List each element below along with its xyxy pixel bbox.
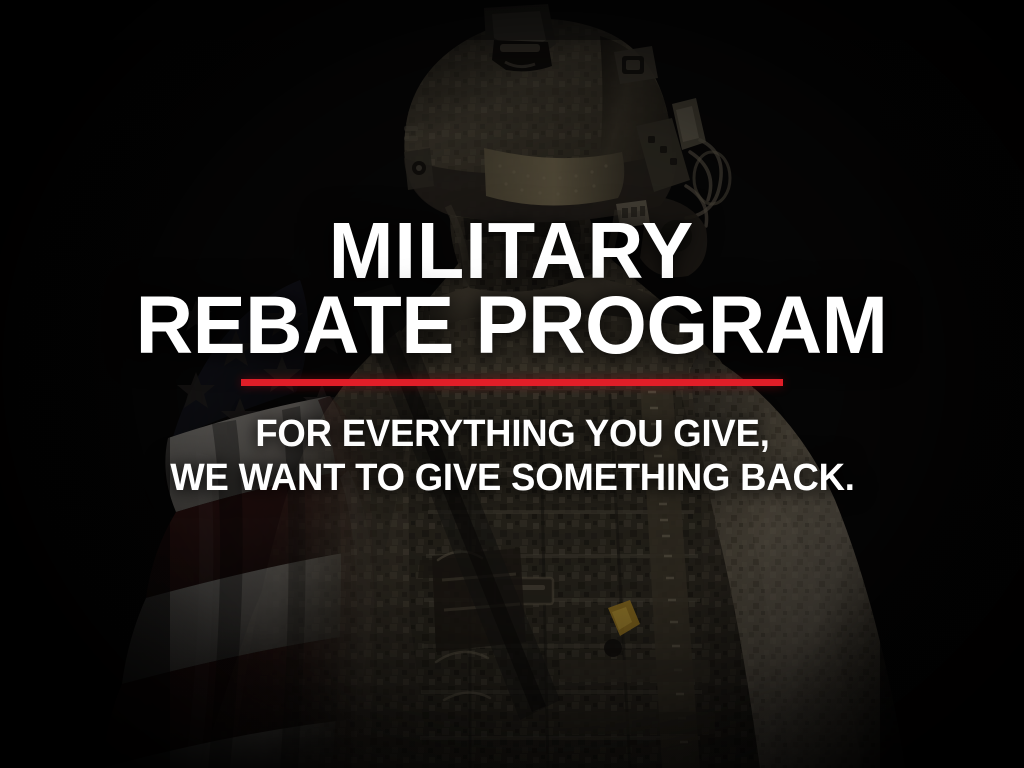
poster-content: MILITARY REBATE PROGRAM FOR EVERYTHING Y… bbox=[0, 0, 1024, 768]
military-rebate-poster: MILITARY REBATE PROGRAM FOR EVERYTHING Y… bbox=[0, 0, 1024, 768]
subheadline-line-2: WE WANT TO GIVE SOMETHING BACK. bbox=[170, 456, 854, 501]
divider-wrap bbox=[0, 379, 1024, 386]
red-rule-divider bbox=[241, 379, 783, 386]
subheadline: FOR EVERYTHING YOU GIVE, WE WANT TO GIVE… bbox=[170, 412, 854, 502]
headline-line-1: MILITARY bbox=[136, 214, 888, 288]
headline-line-2: REBATE PROGRAM bbox=[136, 288, 888, 364]
subheadline-line-1: FOR EVERYTHING YOU GIVE, bbox=[170, 412, 854, 457]
page-title: MILITARY REBATE PROGRAM bbox=[136, 214, 888, 365]
